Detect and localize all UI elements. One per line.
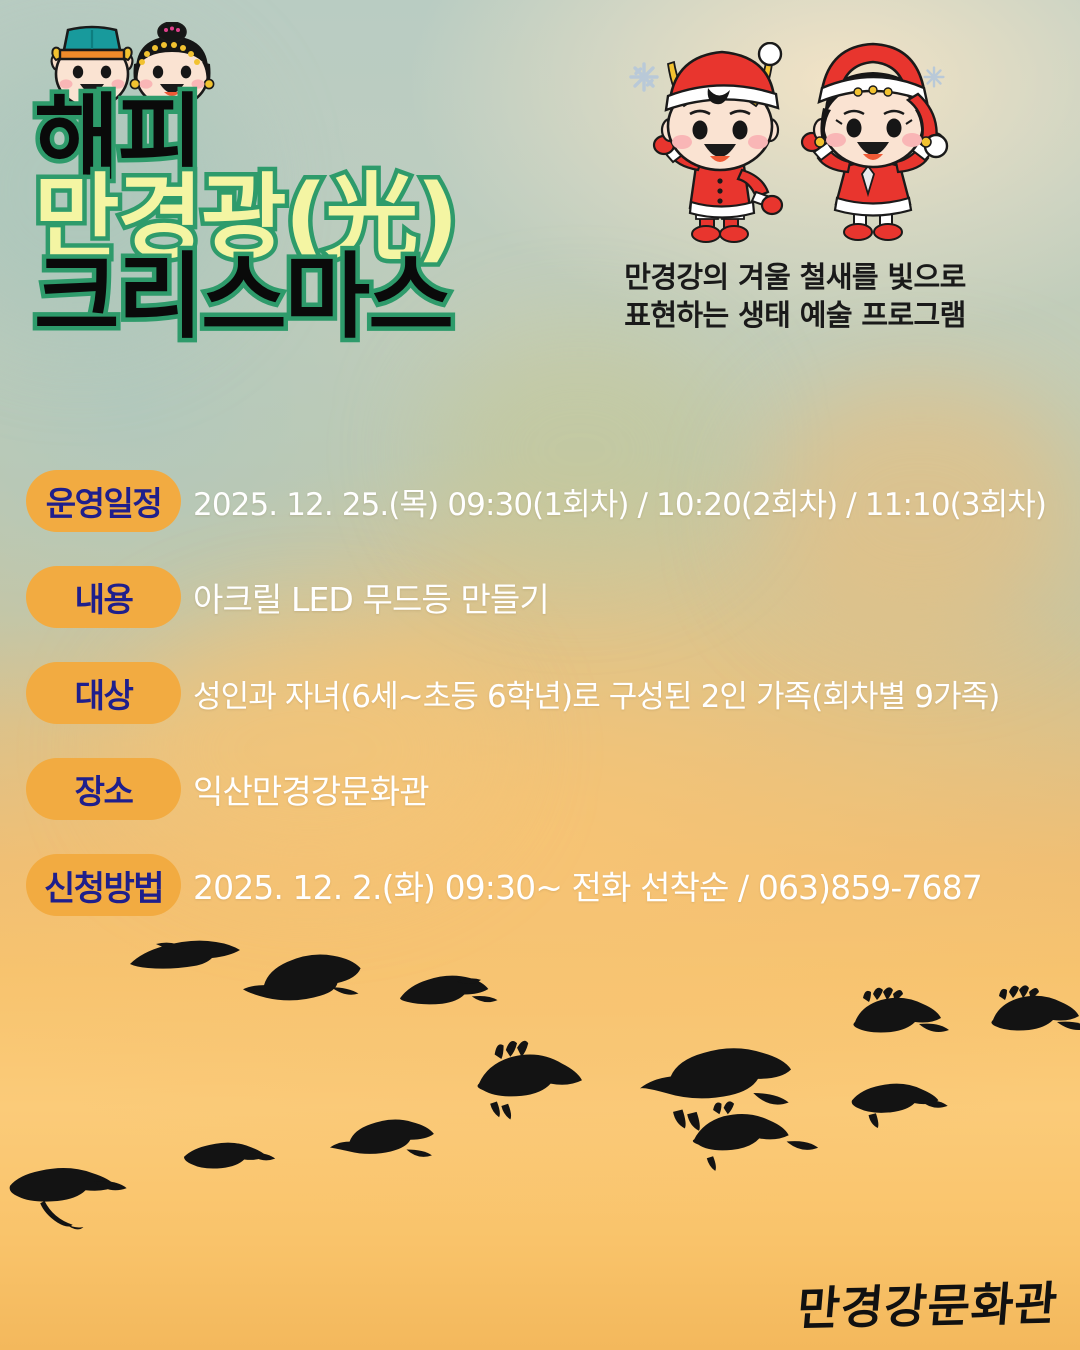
santa-mascots-group: [612, 42, 992, 257]
info-row-target: 대상 성인과 자녀(6세~초등 6학년)로 구성된 2인 가족(회차별 9가족): [26, 654, 1066, 732]
label-pill-target: 대상: [26, 662, 181, 724]
poster-canvas: 해피 만경광(光) 크리스마스: [0, 0, 1080, 1350]
santa-mascots-svg: [612, 42, 992, 257]
santa-boy-mascot-icon: [654, 43, 782, 242]
poster-subtitle: 만경강의 겨울 철새를 빛으로 표현하는 생태 예술 프로그램: [560, 258, 1030, 335]
value-target: 성인과 자녀(6세~초등 6학년)로 구성된 2인 가족(회차별 9가족): [193, 671, 1000, 716]
santa-girl-mascot-icon: [802, 44, 947, 240]
subtitle-line-2: 표현하는 생태 예술 프로그램: [560, 296, 1030, 334]
flying-goose-silhouette-icon: [10, 941, 1080, 1230]
label-pill-apply: 신청방법: [26, 854, 181, 916]
info-table: 운영일정 2025. 12. 25.(목) 09:30(1회차) / 10:20…: [26, 462, 1066, 942]
info-row-schedule: 운영일정 2025. 12. 25.(목) 09:30(1회차) / 10:20…: [26, 462, 1066, 540]
value-venue: 익산만경강문화관: [193, 765, 429, 813]
subtitle-line-1: 만경강의 겨울 철새를 빛으로: [560, 258, 1030, 296]
label-pill-content: 내용: [26, 566, 181, 628]
value-content: 아크릴 LED 무드등 만들기: [193, 573, 549, 621]
label-pill-venue: 장소: [26, 758, 181, 820]
bird-flock-svg: [0, 930, 1080, 1270]
info-row-content: 내용 아크릴 LED 무드등 만들기: [26, 558, 1066, 636]
info-row-venue: 장소 익산만경강문화관: [26, 750, 1066, 828]
bird-flock-illustration: [0, 930, 1080, 1270]
organization-logo: 만경강문화관: [795, 1267, 1061, 1338]
info-row-apply: 신청방법 2025. 12. 2.(화) 09:30~ 전화 선착순 / 063…: [26, 846, 1066, 924]
label-pill-schedule: 운영일정: [26, 470, 181, 532]
value-apply: 2025. 12. 2.(화) 09:30~ 전화 선착순 / 063)859-…: [193, 861, 982, 909]
value-schedule: 2025. 12. 25.(목) 09:30(1회차) / 10:20(2회차)…: [193, 479, 1046, 524]
